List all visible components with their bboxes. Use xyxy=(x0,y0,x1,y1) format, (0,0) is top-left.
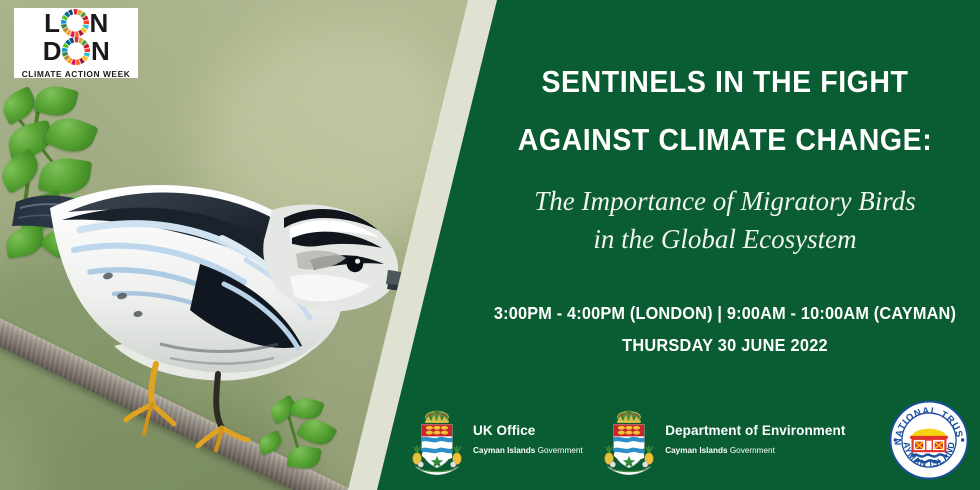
logo-tagline: CLIMATE ACTION WEEK xyxy=(22,69,131,79)
partner-sub-bold: Cayman Islands xyxy=(473,446,535,455)
event-time: 3:00PM - 4:00PM (LONDON) | 9:00AM - 10:0… xyxy=(488,303,962,324)
bird-head xyxy=(263,204,430,311)
subtitle-line-1: The Importance of Migratory Birds xyxy=(470,182,980,220)
warbler-bird xyxy=(10,168,430,448)
partner-subtitle: Cayman Islands Government xyxy=(473,446,583,455)
title-line-2: AGAINST CLIMATE CHANGE: xyxy=(490,124,959,155)
partner-logo-department-of-environment[interactable]: Department of Environment Cayman Islands… xyxy=(602,404,862,476)
partner-sub-regular: Government xyxy=(538,446,583,455)
title-block: SENTINELS IN THE FIGHT AGAINST CLIMATE C… xyxy=(470,66,980,259)
logo-row-top: L xyxy=(44,9,108,37)
sdg-wheel-icon xyxy=(61,9,89,37)
title-line-1: SENTINELS IN THE FIGHT xyxy=(490,66,959,97)
subtitle-line-2: in the Global Ecosystem xyxy=(470,220,980,258)
partner-text-department-of-environment: Department of Environment Cayman Islands… xyxy=(665,422,862,458)
sdg-wheel-icon-2 xyxy=(62,37,90,65)
event-banner: L xyxy=(0,0,980,490)
partner-logos: UK Office Cayman Islands Government xyxy=(410,396,970,484)
partner-sub-regular: Government xyxy=(730,446,775,455)
partner-text-uk-office: UK Office Cayman Islands Government xyxy=(473,422,584,458)
partner-subtitle: Cayman Islands Government xyxy=(665,446,775,455)
national-trust-house-icon xyxy=(910,429,948,451)
partner-name: UK Office xyxy=(473,423,535,438)
event-date: THURSDAY 30 JUNE 2022 xyxy=(488,335,962,356)
partner-name: Department of Environment xyxy=(665,423,845,438)
partner-logo-uk-office[interactable]: UK Office Cayman Islands Government xyxy=(410,404,584,476)
cayman-coat-of-arms-icon xyxy=(410,404,464,476)
logo-letter-l: L xyxy=(44,10,59,36)
logo-letter-n2: N xyxy=(91,38,109,64)
partner-sub-bold: Cayman Islands xyxy=(665,446,727,455)
london-climate-action-week-logo[interactable]: L xyxy=(14,8,138,78)
partner-logo-national-trust[interactable]: NATIONAL TRUST CAYMAN ISLANDS xyxy=(888,399,970,481)
logo-letter-n: N xyxy=(90,10,108,36)
logo-row-bottom: D xyxy=(43,37,110,65)
cayman-coat-of-arms-icon-2 xyxy=(602,404,656,476)
event-details: 3:00PM - 4:00PM (LONDON) | 9:00AM - 10:0… xyxy=(470,303,980,356)
logo-letter-d: D xyxy=(43,38,61,64)
